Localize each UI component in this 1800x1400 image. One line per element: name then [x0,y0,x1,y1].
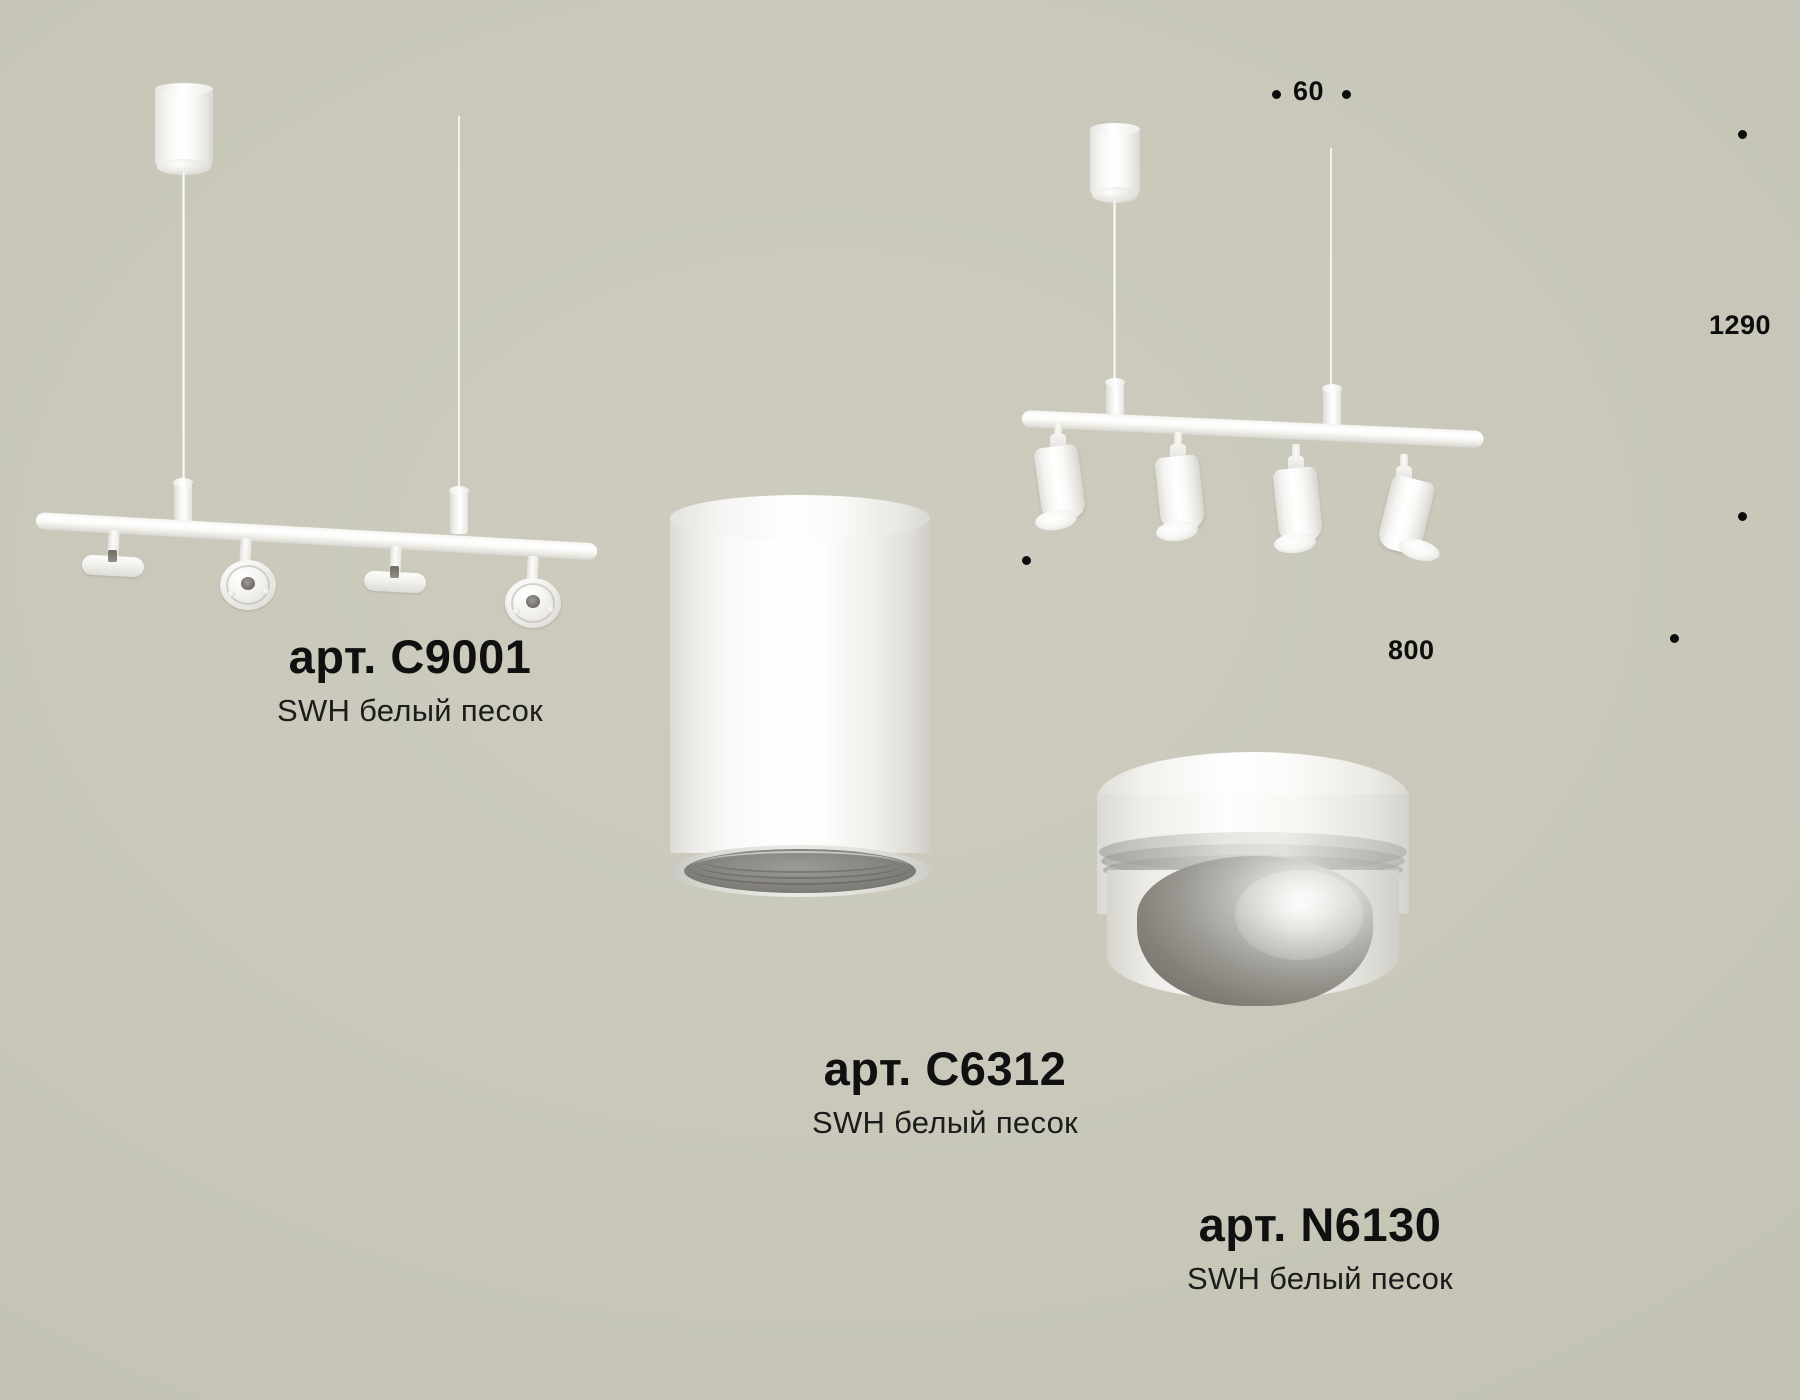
product-art-code-c9001: арт. C9001 [160,630,660,684]
suspension-cable-secondary [458,116,460,506]
product-illustration-c9001 [0,60,700,660]
product-illustration-c6312 [670,495,950,915]
dimension-width-value: 60 [1293,76,1324,107]
dimension-dot-width-left [1272,90,1281,99]
spot-head-cap-1 [108,550,117,562]
product-illustration-track-assembly [980,110,1540,560]
dimension-dot-height-top [1738,130,1747,139]
spot-head-screw-4b [547,606,554,613]
track-bar-2 [1022,410,1484,448]
product-finish-n6130: SWH белый песок [1060,1259,1580,1299]
dimension-dot-height-bottom [1738,512,1747,521]
dimension-dot-length-left [1022,556,1031,565]
product-finish-c9001: SWH белый песок [160,691,660,731]
spot-head-screw-2a [228,590,235,597]
spot-head-core-2 [241,577,255,590]
product-label-c9001: арт. C9001 SWH белый песок [160,630,660,731]
spot-lens-1 [1034,507,1078,533]
spot-head-screw-2b [262,588,269,595]
spot-head-cap-3 [390,566,399,578]
bar-stem-right [450,490,468,534]
product-label-n6130: арт. N6130 SWH белый песок [1060,1198,1580,1299]
spot-head-core-4 [526,595,540,608]
spot-head-screw-4a [513,608,520,615]
suspension-cable-2-secondary [1330,148,1332,398]
suspension-cable [182,168,185,498]
dimension-dot-width-right [1342,90,1351,99]
ceiling-canopy-icon [155,88,213,168]
dimension-length-value: 800 [1388,635,1435,666]
product-art-code-n6130: арт. N6130 [1060,1198,1580,1252]
cylinder-top-cap [670,495,930,541]
track-bar [36,512,598,560]
suspension-cable-2 [1113,196,1116,396]
spot-lens-4 [1396,535,1442,565]
ceiling-canopy-icon-2 [1090,128,1140,196]
cylinder-groove-3 [704,851,896,873]
dimension-dot-length-right [1670,634,1679,643]
dimension-height-value: 1290 [1700,310,1780,341]
diagram-canvas: арт. C9001 SWH белый песок арт. C6312 SW… [0,0,1800,1400]
product-illustration-n6130 [1085,752,1435,1082]
product-finish-c6312: SWH белый песок [660,1103,1230,1143]
ring-inner-highlight [1235,870,1363,960]
cylinder-body [670,513,930,853]
